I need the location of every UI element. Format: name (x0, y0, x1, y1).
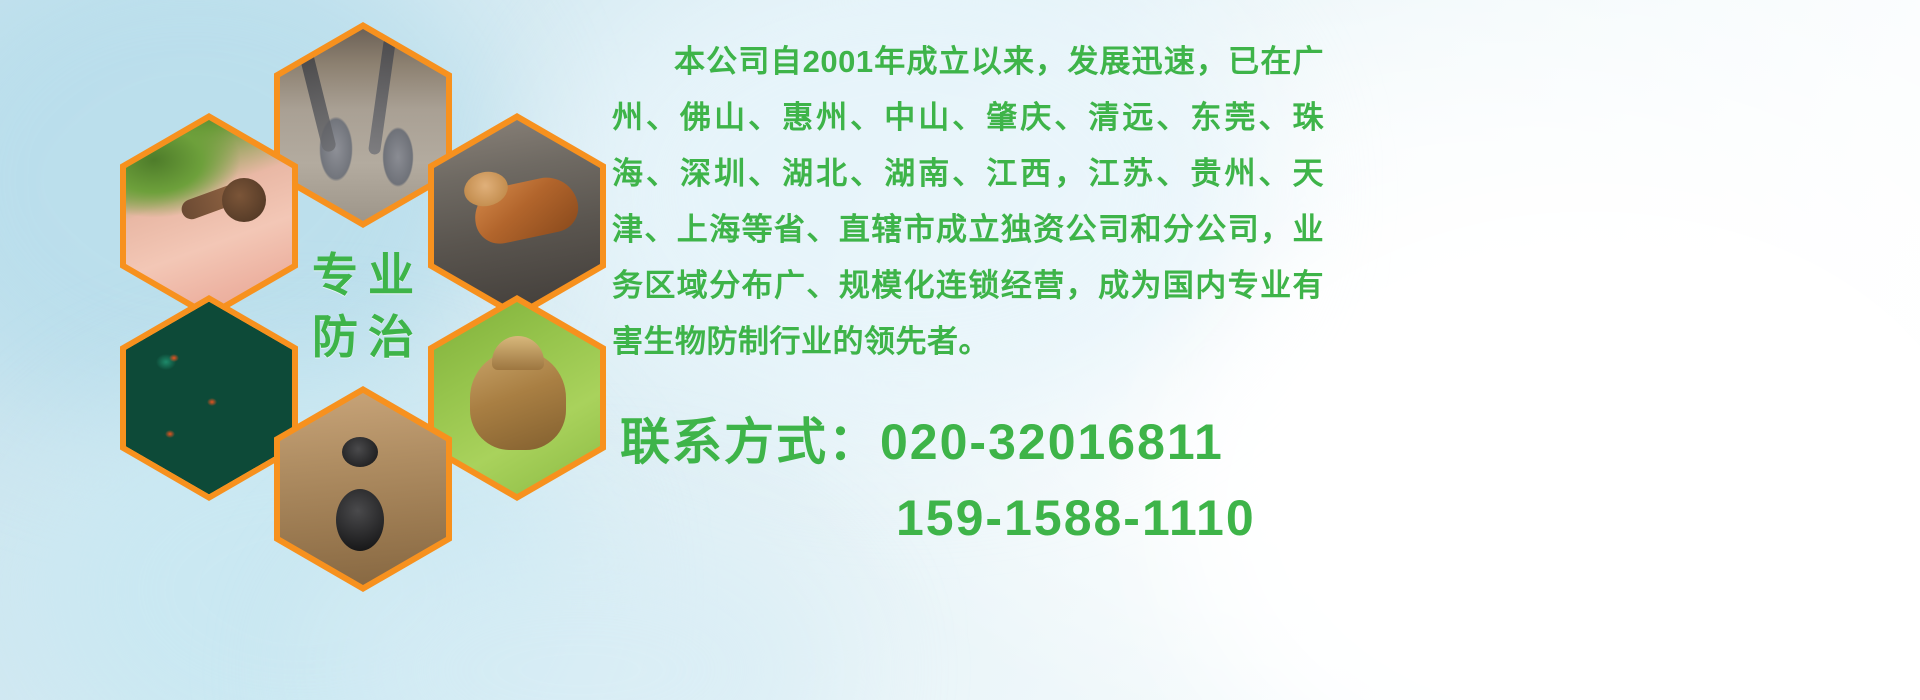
promo-banner: 专业 防治 本公司自2001年成立以来，发展迅速，已在广州、佛山、惠州、中山、肇… (0, 0, 1920, 700)
hex-cell-ant (274, 386, 452, 592)
mosquito-photo-icon (126, 120, 292, 312)
cockroach-photo-icon (434, 120, 600, 312)
hex-cell-center-label: 专业 防治 (274, 204, 452, 410)
center-slogan-line-2: 防治 (302, 313, 424, 363)
hex-cell-mosquito (120, 113, 298, 319)
hex-cell-cockroach (428, 113, 606, 319)
company-description-text: 本公司自2001年成立以来，发展迅速，已在广州、佛山、惠州、中山、肇庆、清远、东… (612, 34, 1324, 370)
contact-info: 联系方式：020-32016811 159-1588-1110 (620, 404, 1380, 556)
center-slogan: 专业 防治 (302, 251, 424, 362)
contact-phone-secondary: 159-1588-1110 (620, 480, 1380, 556)
ant-photo-icon (280, 393, 446, 585)
hexagon-photo-cluster: 专业 防治 (88, 10, 588, 570)
hex-cell-rats (274, 22, 452, 228)
flies-photo-icon (126, 302, 292, 494)
company-description: 本公司自2001年成立以来，发展迅速，已在广州、佛山、惠州、中山、肇庆、清远、东… (612, 34, 1324, 370)
contact-phone-primary: 联系方式：020-32016811 (620, 404, 1380, 480)
hex-cell-stinkbug (428, 295, 606, 501)
stinkbug-photo-icon (434, 302, 600, 494)
hex-cell-flies (120, 295, 298, 501)
rats-photo-icon (280, 29, 446, 221)
center-slogan-line-1: 专业 (302, 251, 424, 301)
